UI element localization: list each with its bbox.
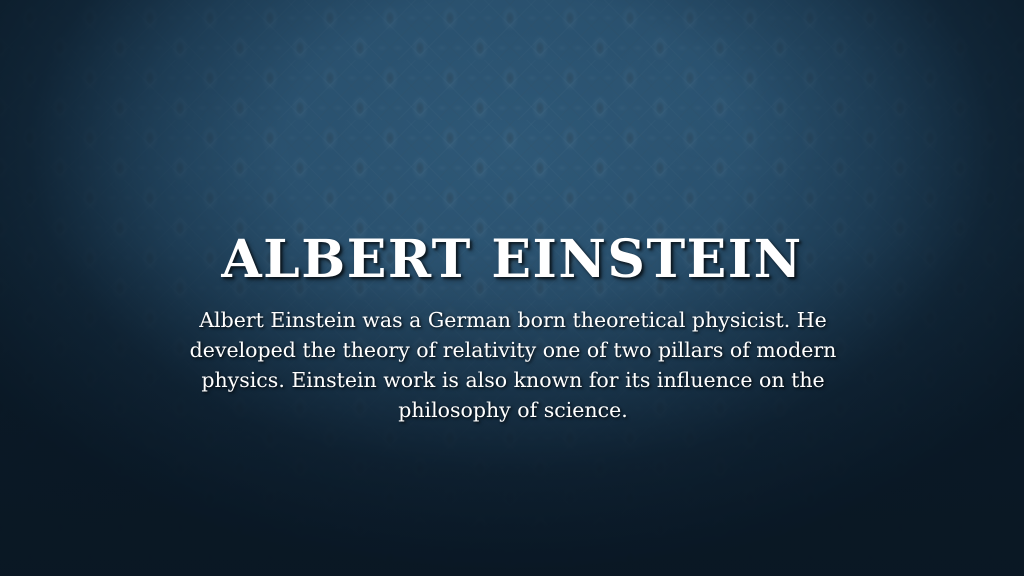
slide-body-text: Albert Einstein was a German born theore… xyxy=(168,305,858,425)
slide-content: ALBERT EINSTEIN Albert Einstein was a Ge… xyxy=(0,0,1024,576)
slide-title: ALBERT EINSTEIN xyxy=(0,232,1024,288)
presentation-slide: ALBERT EINSTEIN Albert Einstein was a Ge… xyxy=(0,0,1024,576)
